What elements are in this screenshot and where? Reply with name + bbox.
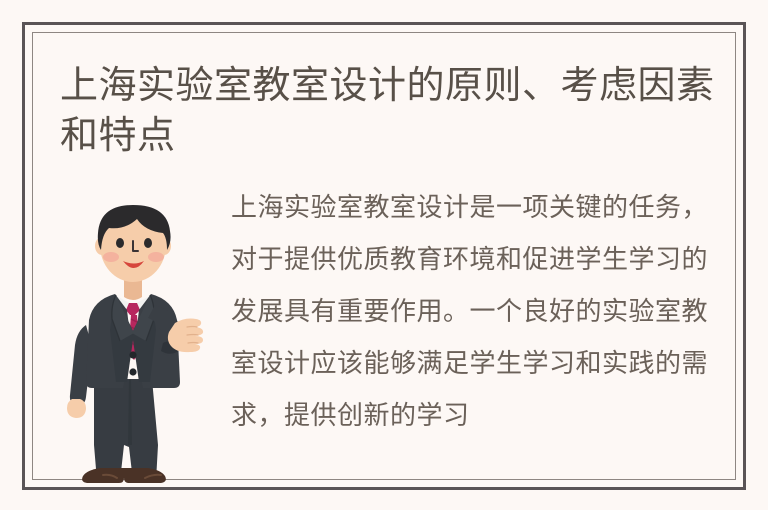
article-body-container: 上海实验室教室设计是一项关键的任务，对于提供优质教育环境和促进学生学习的发展具有… bbox=[231, 181, 731, 441]
businessman-presenting-illustration bbox=[63, 183, 213, 483]
shoes-shape bbox=[82, 468, 166, 483]
trousers-shape bbox=[94, 379, 158, 481]
head-shape bbox=[95, 205, 171, 282]
article-card: 上海实验室教室设计的原则、考虑因素和特点 bbox=[22, 22, 746, 490]
page-title: 上海实验室教室设计的原则、考虑因素和特点 bbox=[60, 61, 720, 161]
article-body-text: 上海实验室教室设计是一项关键的任务，对于提供优质教育环境和促进学生学习的发展具有… bbox=[231, 181, 731, 441]
neck-shape bbox=[124, 279, 142, 300]
right-eye bbox=[144, 238, 152, 248]
left-eye bbox=[116, 238, 124, 248]
article-card-inner-frame: 上海实验室教室设计的原则、考虑因素和特点 bbox=[32, 32, 736, 480]
